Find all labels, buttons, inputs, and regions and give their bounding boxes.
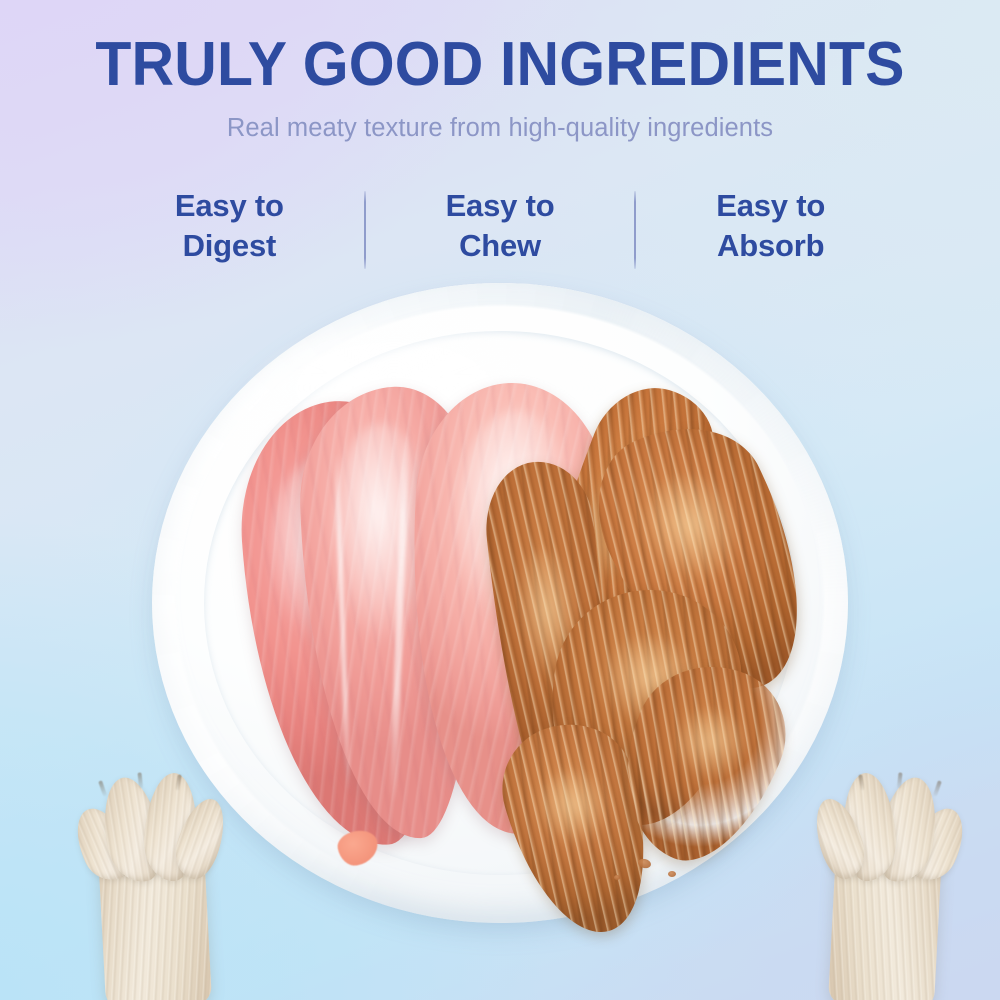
dog-paw-right — [806, 766, 968, 1000]
feature-absorb-line2: Absorb — [636, 226, 905, 266]
dog-paw-left — [72, 766, 234, 1000]
feature-chew-line1: Easy to — [366, 186, 635, 226]
jerky-crumb — [614, 875, 620, 880]
jerky-crumb — [668, 871, 676, 877]
paw-claw — [98, 780, 107, 796]
header-block: TRULY GOOD INGREDIENTS Real meaty textur… — [0, 0, 1000, 142]
feature-digest-line1: Easy to — [95, 186, 364, 226]
feature-easy-to-digest: Easy to Digest — [95, 186, 364, 265]
paw-claw — [137, 772, 143, 788]
feature-easy-to-chew: Easy to Chew — [366, 186, 635, 265]
page-subtitle: Real meaty texture from high-quality ing… — [0, 96, 1000, 142]
feature-digest-line2: Digest — [95, 226, 364, 266]
infographic-canvas: TRULY GOOD INGREDIENTS Real meaty textur… — [0, 0, 1000, 1000]
feature-easy-to-absorb: Easy to Absorb — [636, 186, 905, 265]
feature-chew-line2: Chew — [366, 226, 635, 266]
feature-absorb-line1: Easy to — [636, 186, 905, 226]
paw-claw — [933, 780, 942, 796]
feature-row: Easy to Digest Easy to Chew Easy to Abso… — [95, 186, 905, 276]
page-title: TRULY GOOD INGREDIENTS — [25, 0, 975, 96]
food-photo — [152, 283, 848, 923]
